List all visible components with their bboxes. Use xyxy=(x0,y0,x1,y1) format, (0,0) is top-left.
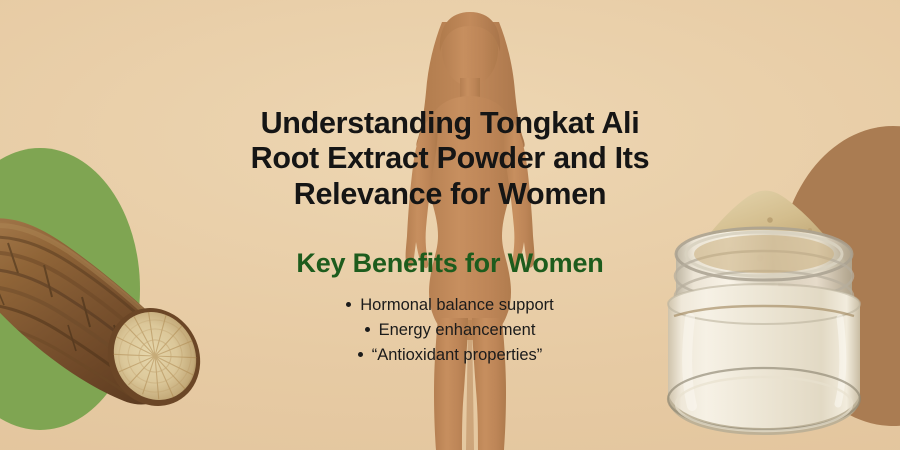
promotional-banner: Understanding Tongkat Ali Root Extract P… xyxy=(0,0,900,450)
headline-line-1: Understanding Tongkat Ali xyxy=(261,106,640,140)
benefit-text: Energy enhancement xyxy=(379,321,536,339)
bullet-dot-icon xyxy=(365,327,370,332)
benefit-text: “Antioxidant properties” xyxy=(372,346,543,364)
list-item: Energy enhancement xyxy=(200,318,700,343)
bullet-dot-icon xyxy=(358,352,363,357)
subheading: Key Benefits for Women xyxy=(200,212,700,279)
headline-line-3: Relevance for Women xyxy=(294,177,606,211)
headline-line-2: Root Extract Powder and Its xyxy=(251,141,650,175)
list-item: “Antioxidant properties” xyxy=(200,343,700,368)
bullet-dot-icon xyxy=(346,302,351,307)
text-block: Understanding Tongkat Ali Root Extract P… xyxy=(200,106,700,368)
benefits-list: Hormonal balance support Energy enhancem… xyxy=(200,279,700,368)
page-title: Understanding Tongkat Ali Root Extract P… xyxy=(200,106,700,212)
list-item: Hormonal balance support xyxy=(200,293,700,318)
benefit-text: Hormonal balance support xyxy=(360,296,554,314)
